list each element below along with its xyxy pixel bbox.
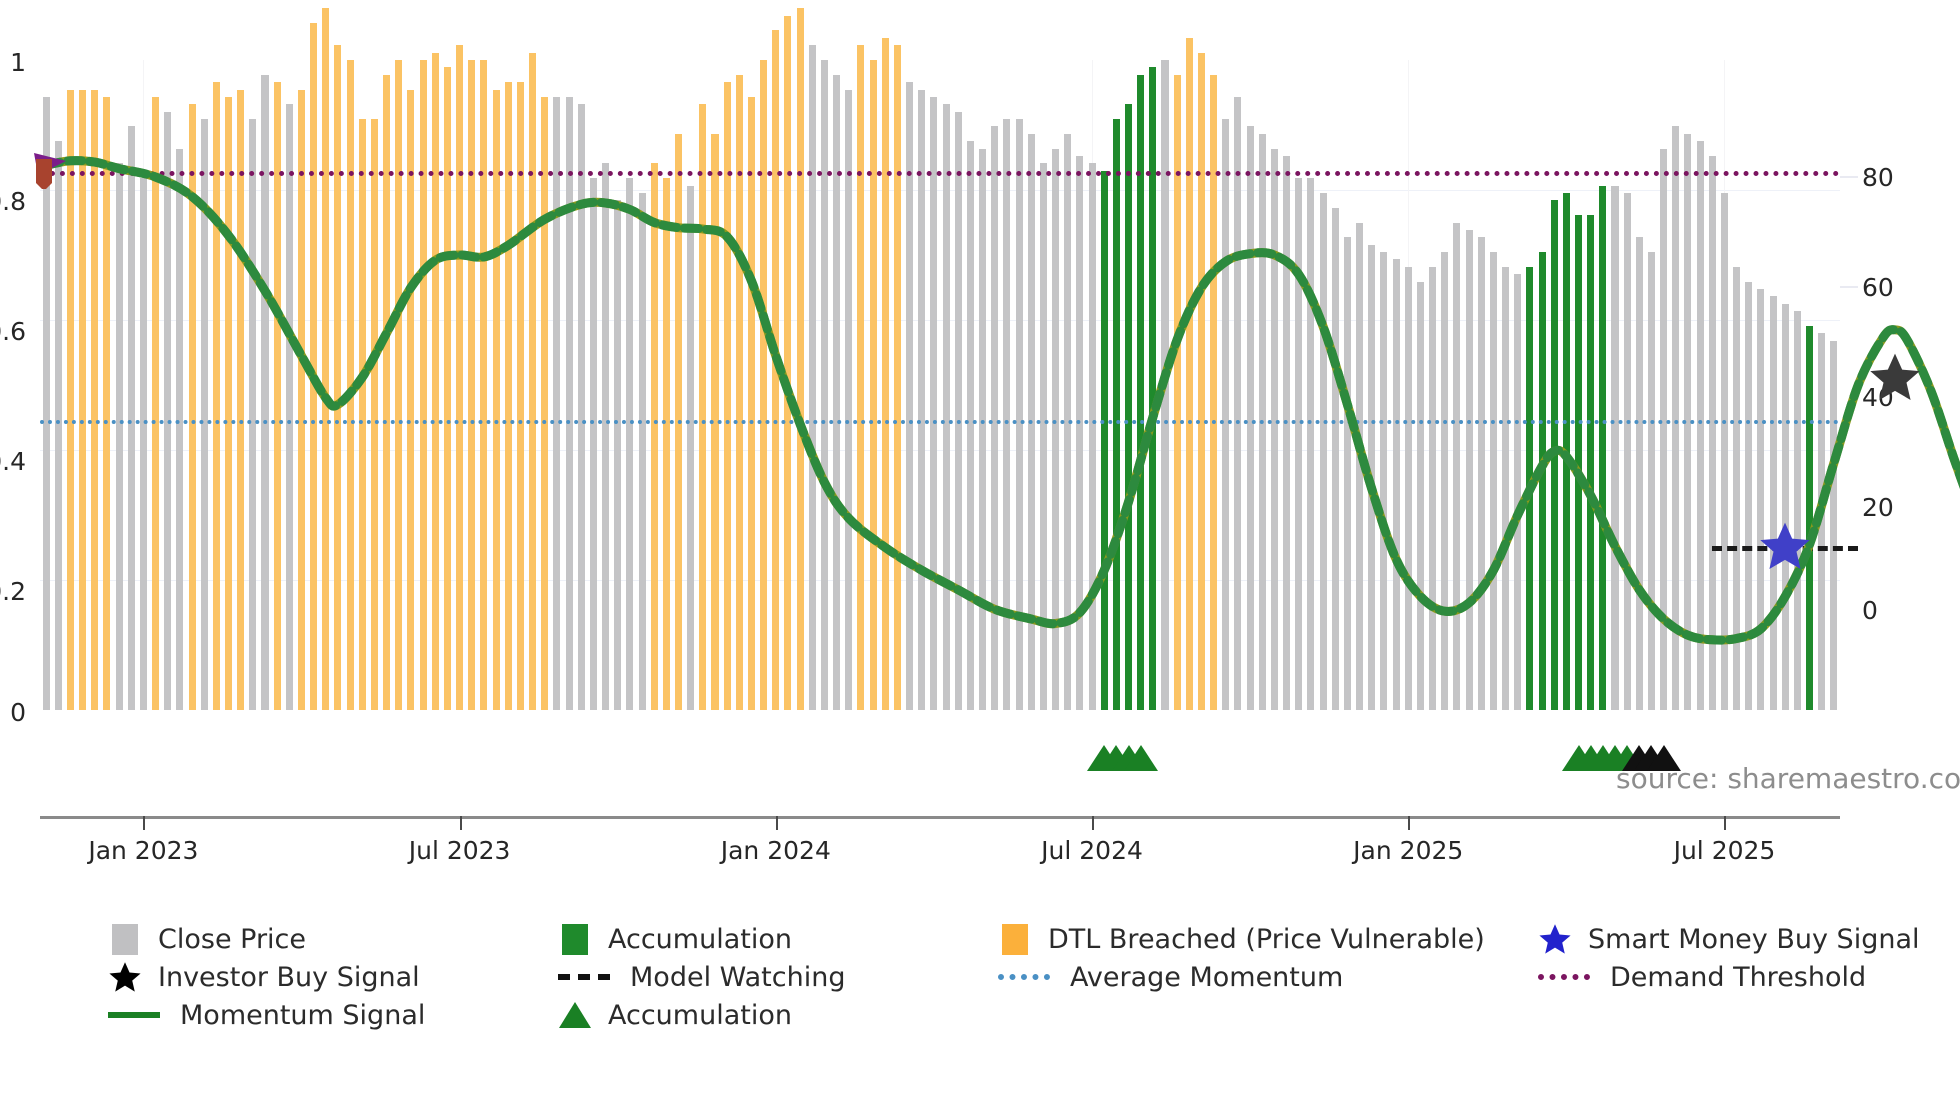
average-momentum-dot-icon	[998, 974, 1054, 980]
accumulation-swatch-icon	[558, 922, 592, 956]
legend-item-average-momentum[interactable]: Average Momentum	[998, 962, 1538, 993]
legend-label-accumulation-bar: Accumulation	[608, 924, 792, 955]
x-axis-label: Jan 2023	[88, 836, 198, 865]
y-axis-left-tick-1: 1	[10, 48, 26, 77]
x-axis-tick	[776, 816, 778, 830]
investor-star-icon	[108, 960, 142, 994]
y-axis-right-tick-80: 80	[1862, 163, 1894, 192]
legend-label-close-price: Close Price	[158, 924, 306, 955]
momentum-signal-line-icon	[108, 1012, 164, 1018]
y-axis-right-tick-0: 0	[1862, 596, 1878, 625]
y-axis-right-tick-20: 20	[1862, 493, 1894, 522]
x-axis-label: Jul 2025	[1674, 836, 1776, 865]
x-axis-tick	[1092, 816, 1094, 830]
y-axis-left-tick-04: 0.4	[0, 447, 26, 476]
x-axis-tick	[1408, 816, 1410, 830]
x-axis-label: Jul 2023	[409, 836, 511, 865]
x-axis-label: Jan 2024	[721, 836, 831, 865]
legend-label-model-watching: Model Watching	[630, 962, 845, 993]
y-axis-left-tick-06: 0.6	[0, 317, 26, 346]
chart-legend: Close Price Accumulation DTL Breached (P…	[108, 920, 1908, 1034]
legend-item-close-price[interactable]: Close Price	[108, 922, 558, 956]
x-axis-tick	[1724, 816, 1726, 830]
legend-item-smart-money-buy[interactable]: Smart Money Buy Signal	[1538, 922, 1908, 956]
y-axis-left-tick-0: 0	[10, 698, 26, 727]
legend-item-model-watching[interactable]: Model Watching	[558, 962, 998, 993]
y-axis-left-tick-08: 0.8	[0, 187, 26, 216]
smart-money-star-icon	[1538, 922, 1572, 956]
y-axis-right-tick-60: 60	[1862, 273, 1894, 302]
model-watching-dash-icon	[558, 974, 614, 980]
legend-item-demand-threshold[interactable]: Demand Threshold	[1538, 962, 1908, 993]
y-axis-left-tick-02: 0.2	[0, 577, 26, 606]
y-axis-right-tickmark-80	[1840, 176, 1858, 178]
legend-label-dtl-breached: DTL Breached (Price Vulnerable)	[1048, 924, 1485, 955]
x-axis-tick	[460, 816, 462, 830]
x-axis-label: Jan 2025	[1353, 836, 1463, 865]
legend-item-investor-buy[interactable]: Investor Buy Signal	[108, 960, 558, 994]
legend-label-smart-money-buy: Smart Money Buy Signal	[1588, 924, 1920, 955]
close-price-swatch-icon	[108, 922, 142, 956]
legend-item-accumulation-triangle[interactable]: Accumulation	[558, 998, 998, 1032]
legend-label-average-momentum: Average Momentum	[1070, 962, 1343, 993]
dtl-breached-swatch-icon	[998, 922, 1032, 956]
legend-label-demand-threshold: Demand Threshold	[1610, 962, 1866, 993]
plot-area	[40, 60, 1840, 710]
legend-item-momentum-signal[interactable]: Momentum Signal	[108, 1000, 558, 1031]
signal-markers	[40, 60, 1840, 710]
legend-label-momentum-signal: Momentum Signal	[180, 1000, 425, 1031]
legend-label-investor-buy: Investor Buy Signal	[158, 962, 420, 993]
investor-buy-signal-star-icon[interactable]	[1869, 351, 1921, 407]
source-watermark: source: sharemaestro.com	[1616, 762, 1960, 795]
momentum-chart: 1 0.8 0.6 0.4 0.2 0 80 60 40 20 0 Jan 20…	[0, 0, 1960, 1102]
smart-money-buy-signal-star-icon[interactable]	[1759, 520, 1811, 576]
accumulation-triangle-green[interactable]	[1124, 745, 1158, 771]
y-axis-right-tickmark-60	[1840, 286, 1858, 288]
start-marker-icon	[32, 145, 78, 193]
legend-item-dtl-breached[interactable]: DTL Breached (Price Vulnerable)	[998, 922, 1538, 956]
legend-label-accumulation-triangle: Accumulation	[608, 1000, 792, 1031]
x-axis-label: Jul 2024	[1041, 836, 1143, 865]
accumulation-triangle-icon	[558, 998, 592, 1032]
demand-threshold-dot-icon	[1538, 974, 1594, 980]
legend-item-accumulation-bar[interactable]: Accumulation	[558, 922, 998, 956]
x-axis-line	[40, 816, 1840, 819]
x-axis-tick	[143, 816, 145, 830]
